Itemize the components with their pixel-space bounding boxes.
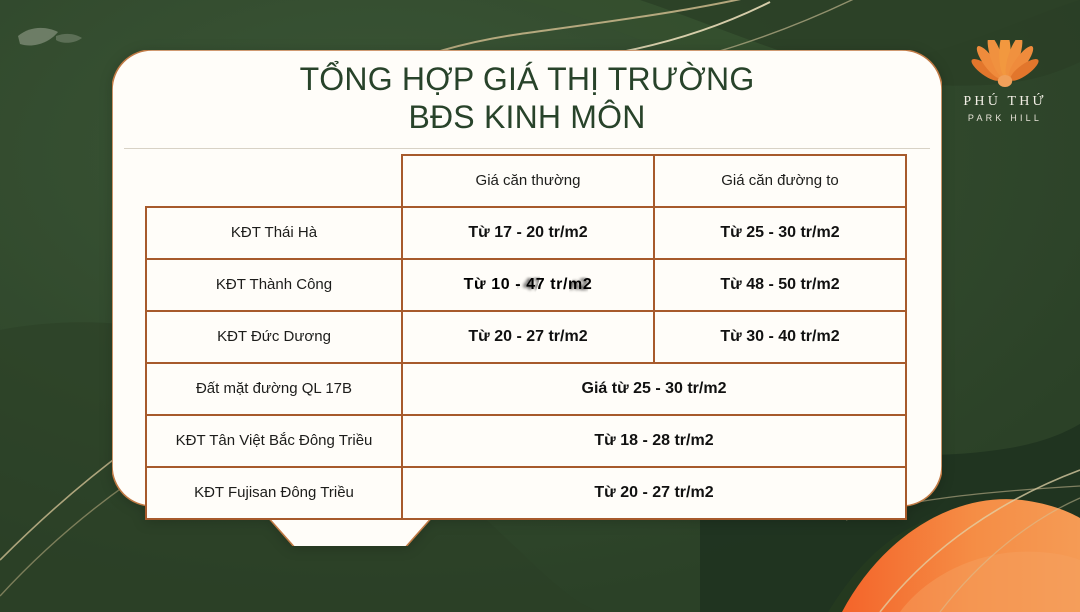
title-divider	[124, 148, 930, 149]
row-value-main-road: Từ 48 - 50 tr/m2	[654, 259, 906, 311]
content-card: TỔNG HỢP GIÁ THỊ TRƯỜNG BĐS KINH MÔN Giá…	[112, 50, 942, 546]
value-normal: Từ 17 - 20 tr/m2	[468, 224, 587, 241]
row-label: Đất mặt đường QL 17B	[196, 380, 352, 397]
value-main-road: Từ 30 - 40 tr/m2	[720, 328, 839, 345]
row-label-cell: KĐT Fujisan Đông Triều	[146, 467, 402, 519]
value-merged: Từ 20 - 27 tr/m2	[594, 484, 713, 501]
row-value-normal: Từ 20 - 27 tr/m2	[402, 311, 654, 363]
row-label: KĐT Fujisan Đông Triều	[194, 484, 354, 501]
brand-logo: PHÚ THỨ PARK HILL	[946, 40, 1064, 123]
header-label-main-road: Giá căn đường to	[721, 172, 838, 189]
value-normal: Từ 20 - 27 tr/m2	[468, 328, 587, 345]
row-label: KĐT Tân Việt Bắc Đông Triều	[176, 432, 373, 449]
table-row: Đất mặt đường QL 17B Giá từ 25 - 30 tr/m…	[146, 363, 906, 415]
row-value-merged: Từ 18 - 28 tr/m2	[402, 415, 906, 467]
row-value-normal: Từ 10 - 47 tr/m2 Từ 10 - 47 tr/m2	[402, 259, 654, 311]
row-value-merged: Giá từ 25 - 30 tr/m2	[402, 363, 906, 415]
price-table: Giá căn thường Giá căn đường to KĐT Thái…	[145, 154, 907, 520]
header-cell-empty	[146, 155, 402, 207]
header-label-normal: Giá căn thường	[476, 172, 581, 189]
value-merged: Từ 18 - 28 tr/m2	[594, 432, 713, 449]
row-label: KĐT Đức Dương	[217, 328, 331, 345]
brand-name: PHÚ THỨ	[946, 94, 1064, 110]
row-value-main-road: Từ 25 - 30 tr/m2	[654, 207, 906, 259]
table-row: KĐT Đức Dương Từ 20 - 27 tr/m2 Từ 30 - 4…	[146, 311, 906, 363]
value-normal-corrupted: Từ 10 - 47 tr/m2 Từ 10 - 47 tr/m2	[464, 276, 593, 294]
row-label: KĐT Thái Hà	[231, 224, 317, 241]
header-cell-main-road: Giá căn đường to	[654, 155, 906, 207]
brand-tagline: PARK HILL	[946, 113, 1064, 123]
table-row: KĐT Fujisan Đông Triều Từ 20 - 27 tr/m2	[146, 467, 906, 519]
row-label-cell: KĐT Thái Hà	[146, 207, 402, 259]
value-main-road: Từ 48 - 50 tr/m2	[720, 276, 839, 293]
title-line-2: BĐS KINH MÔN	[112, 98, 942, 136]
title-line-1: TỔNG HỢP GIÁ THỊ TRƯỜNG	[112, 60, 942, 98]
page-title: TỔNG HỢP GIÁ THỊ TRƯỜNG BĐS KINH MÔN	[112, 60, 942, 136]
table-header-row: Giá căn thường Giá căn đường to	[146, 155, 906, 207]
fan-shell-icon	[966, 40, 1044, 90]
row-label-cell: KĐT Đức Dương	[146, 311, 402, 363]
row-value-normal: Từ 17 - 20 tr/m2	[402, 207, 654, 259]
table-row: KĐT Thành Công Từ 10 - 47 tr/m2 Từ 10 - …	[146, 259, 906, 311]
header-cell-normal: Giá căn thường	[402, 155, 654, 207]
row-label-cell: KĐT Tân Việt Bắc Đông Triều	[146, 415, 402, 467]
row-value-main-road: Từ 30 - 40 tr/m2	[654, 311, 906, 363]
table-row: KĐT Thái Hà Từ 17 - 20 tr/m2 Từ 25 - 30 …	[146, 207, 906, 259]
row-value-merged: Từ 20 - 27 tr/m2	[402, 467, 906, 519]
value-main-road: Từ 25 - 30 tr/m2	[720, 224, 839, 241]
table-row: KĐT Tân Việt Bắc Đông Triều Từ 18 - 28 t…	[146, 415, 906, 467]
value-merged: Giá từ 25 - 30 tr/m2	[582, 380, 727, 397]
row-label-cell: Đất mặt đường QL 17B	[146, 363, 402, 415]
row-label: KĐT Thành Công	[216, 276, 332, 293]
row-label-cell: KĐT Thành Công	[146, 259, 402, 311]
